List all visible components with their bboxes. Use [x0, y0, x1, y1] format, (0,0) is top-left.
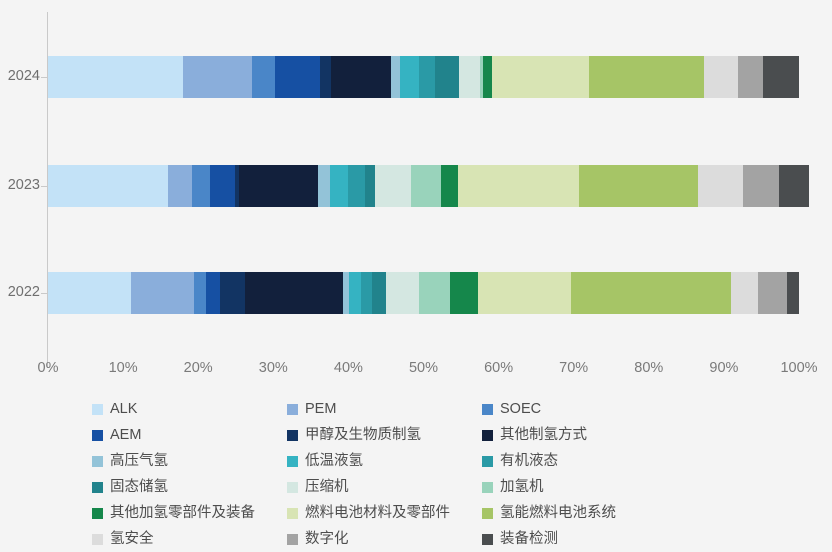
- bar-segment: [738, 56, 763, 98]
- legend-item-12[interactable]: 其他加氢零部件及装备: [92, 500, 287, 526]
- bar-segment: [192, 165, 210, 207]
- bar-segment: [459, 56, 479, 98]
- bar-segment: [478, 272, 571, 314]
- bar-segment: [787, 272, 799, 314]
- x-axis-tick-label: 50%: [394, 360, 454, 376]
- y-axis-tick-mark: [41, 77, 47, 78]
- legend-item-15[interactable]: 氢安全: [92, 526, 287, 552]
- bar-segment: [743, 165, 778, 207]
- bar-segment: [330, 165, 347, 207]
- x-axis-tick-label: 20%: [168, 360, 228, 376]
- legend-label: 有机液态: [500, 454, 558, 469]
- legend-label: SOEC: [500, 402, 541, 417]
- legend-label: 压缩机: [305, 480, 349, 495]
- bar-segment: [458, 165, 579, 207]
- bar-segment: [779, 165, 810, 207]
- bar-segment: [391, 56, 400, 98]
- legend-item-1[interactable]: PEM: [287, 396, 482, 422]
- legend-swatch-icon: [92, 430, 103, 441]
- x-axis-tick-label: 0%: [18, 360, 78, 376]
- bar-segment: [758, 272, 787, 314]
- legend-swatch-icon: [287, 404, 298, 415]
- legend-item-10[interactable]: 压缩机: [287, 474, 482, 500]
- bar-segment: [131, 272, 195, 314]
- legend-item-14[interactable]: 氢能燃料电池系统: [482, 500, 677, 526]
- legend-label: 氢安全: [110, 532, 154, 547]
- bar-2024: [48, 56, 799, 98]
- legend-label: PEM: [305, 402, 336, 417]
- legend-swatch-icon: [92, 534, 103, 545]
- y-axis-tick-label: 2022: [0, 284, 40, 300]
- bar-segment: [210, 165, 235, 207]
- legend-item-6[interactable]: 高压气氢: [92, 448, 287, 474]
- bar-segment: [48, 272, 131, 314]
- legend-swatch-icon: [287, 430, 298, 441]
- legend-item-9[interactable]: 固态储氢: [92, 474, 287, 500]
- bar-segment: [48, 165, 168, 207]
- bar-segment: [400, 56, 419, 98]
- stacked-bar-chart: 202420232022 0%10%20%30%40%50%60%70%80%9…: [0, 0, 832, 518]
- x-axis-tick-label: 60%: [469, 360, 529, 376]
- legend-label: 高压气氢: [110, 454, 168, 469]
- legend-label: 氢能燃料电池系统: [500, 506, 616, 521]
- legend-swatch-icon: [287, 456, 298, 467]
- bar-segment: [348, 165, 365, 207]
- bar-2022: [48, 272, 799, 314]
- bar-segment: [483, 56, 492, 98]
- legend-swatch-icon: [287, 508, 298, 519]
- legend-item-5[interactable]: 其他制氢方式: [482, 422, 677, 448]
- legend-label: 加氢机: [500, 480, 544, 495]
- legend-item-8[interactable]: 有机液态: [482, 448, 677, 474]
- y-axis-tick-mark: [41, 186, 47, 187]
- legend-label: 装备检测: [500, 532, 558, 547]
- bar-segment: [349, 272, 361, 314]
- legend-label: 固态储氢: [110, 480, 168, 495]
- bar-segment: [419, 56, 435, 98]
- legend-swatch-icon: [287, 534, 298, 545]
- x-axis-tick-label: 40%: [318, 360, 378, 376]
- bar-segment: [435, 56, 460, 98]
- x-axis-tick-label: 30%: [243, 360, 303, 376]
- x-axis-tick-label: 80%: [619, 360, 679, 376]
- bar-segment: [318, 165, 330, 207]
- legend-label: 甲醇及生物质制氢: [305, 428, 421, 443]
- x-axis-tick-label: 100%: [769, 360, 829, 376]
- bar-segment: [331, 56, 391, 98]
- y-axis-tick-label: 2023: [0, 177, 40, 193]
- bar-segment: [252, 56, 275, 98]
- bar-segment: [441, 165, 458, 207]
- y-axis-tick-label: 2024: [0, 68, 40, 84]
- legend-label: 燃料电池材料及零部件: [305, 506, 450, 521]
- legend-swatch-icon: [287, 482, 298, 493]
- bar-segment: [731, 272, 757, 314]
- bar-2023: [48, 165, 799, 207]
- bar-segment: [419, 272, 450, 314]
- bar-segment: [698, 165, 744, 207]
- legend-label: 其他加氢零部件及装备: [110, 506, 255, 521]
- legend-swatch-icon: [92, 508, 103, 519]
- legend-swatch-icon: [482, 508, 493, 519]
- bar-segment: [206, 272, 220, 314]
- plot-area: [48, 12, 799, 348]
- x-axis-tick-label: 90%: [694, 360, 754, 376]
- bar-segment: [579, 165, 698, 207]
- bar-segment: [48, 56, 183, 98]
- legend-swatch-icon: [92, 404, 103, 415]
- bar-segment: [183, 56, 252, 98]
- bar-segment: [245, 272, 343, 314]
- legend-item-7[interactable]: 低温液氢: [287, 448, 482, 474]
- bar-segment: [275, 56, 320, 98]
- bar-segment: [450, 272, 478, 314]
- legend-item-16[interactable]: 数字化: [287, 526, 482, 552]
- bar-segment: [386, 272, 419, 314]
- y-axis-tick-mark: [41, 293, 47, 294]
- legend-item-11[interactable]: 加氢机: [482, 474, 677, 500]
- chart-legend: ALKPEMSOECAEM甲醇及生物质制氢其他制氢方式高压气氢低温液氢有机液态固…: [92, 396, 812, 552]
- legend-item-4[interactable]: 甲醇及生物质制氢: [287, 422, 482, 448]
- bar-segment: [704, 56, 738, 98]
- legend-swatch-icon: [482, 482, 493, 493]
- legend-label: AEM: [110, 428, 141, 443]
- bar-segment: [375, 165, 411, 207]
- bar-segment: [239, 165, 319, 207]
- x-axis-tick-label: 10%: [93, 360, 153, 376]
- bar-segment: [168, 165, 192, 207]
- bar-segment: [411, 165, 441, 207]
- bar-segment: [194, 272, 206, 314]
- legend-item-17[interactable]: 装备检测: [482, 526, 677, 552]
- x-axis-tick-label: 70%: [544, 360, 604, 376]
- bar-segment: [365, 165, 375, 207]
- bar-segment: [763, 56, 799, 98]
- bar-segment: [492, 56, 588, 98]
- bar-segment: [361, 272, 372, 314]
- legend-label: ALK: [110, 402, 137, 417]
- legend-label: 数字化: [305, 532, 349, 547]
- bar-segment: [320, 56, 331, 98]
- legend-swatch-icon: [482, 534, 493, 545]
- bar-segment: [571, 272, 732, 314]
- legend-swatch-icon: [92, 456, 103, 467]
- bar-segment: [220, 272, 245, 314]
- legend-item-13[interactable]: 燃料电池材料及零部件: [287, 500, 482, 526]
- legend-label: 低温液氢: [305, 454, 363, 469]
- legend-swatch-icon: [482, 456, 493, 467]
- bar-segment: [372, 272, 386, 314]
- legend-item-3[interactable]: AEM: [92, 422, 287, 448]
- bar-segment: [589, 56, 705, 98]
- legend-item-0[interactable]: ALK: [92, 396, 287, 422]
- legend-swatch-icon: [92, 482, 103, 493]
- legend-item-2[interactable]: SOEC: [482, 396, 677, 422]
- legend-swatch-icon: [482, 404, 493, 415]
- legend-swatch-icon: [482, 430, 493, 441]
- legend-label: 其他制氢方式: [500, 428, 587, 443]
- x-axis-labels: 0%10%20%30%40%50%60%70%80%90%100%: [0, 360, 832, 384]
